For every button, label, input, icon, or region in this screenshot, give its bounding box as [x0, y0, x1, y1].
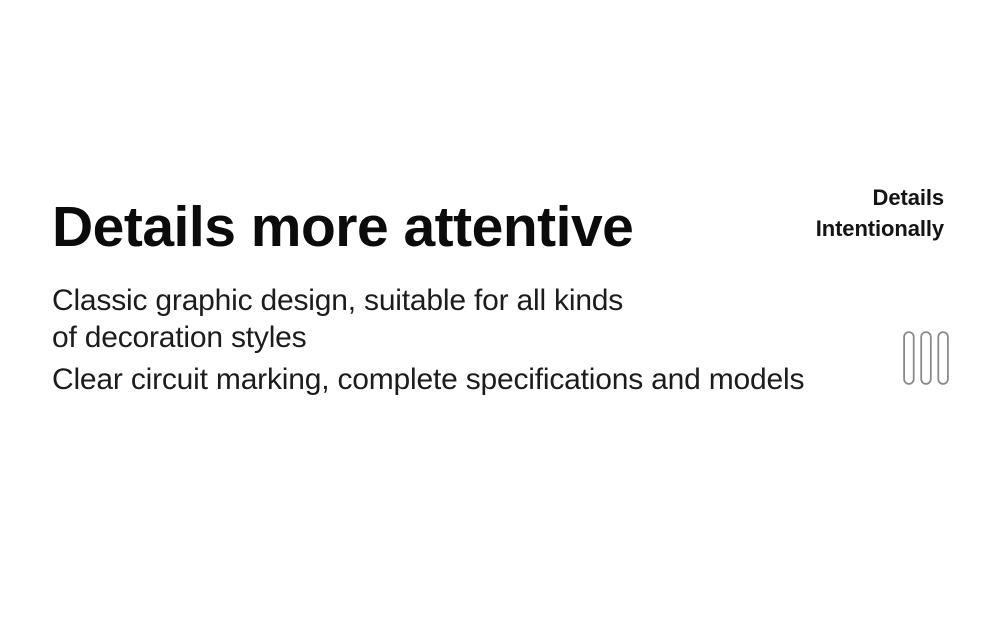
three-vertical-bars-icon: [903, 331, 949, 385]
main-copy-block: Details more attentive Classic graphic d…: [52, 196, 852, 398]
page-title: Details more attentive: [52, 196, 852, 260]
body-line-2: of decoration styles: [52, 319, 852, 356]
side-caption-line-1: Details: [816, 182, 944, 213]
body-line-3: Clear circuit marking, complete specific…: [52, 361, 852, 398]
slide-canvas: Details more attentive Classic graphic d…: [0, 0, 1000, 627]
body-line-1: Classic graphic design, suitable for all…: [52, 282, 852, 319]
body-text-block: Classic graphic design, suitable for all…: [52, 282, 852, 398]
side-caption-line-2: Intentionally: [816, 213, 944, 244]
side-caption: Details Intentionally: [816, 182, 944, 244]
